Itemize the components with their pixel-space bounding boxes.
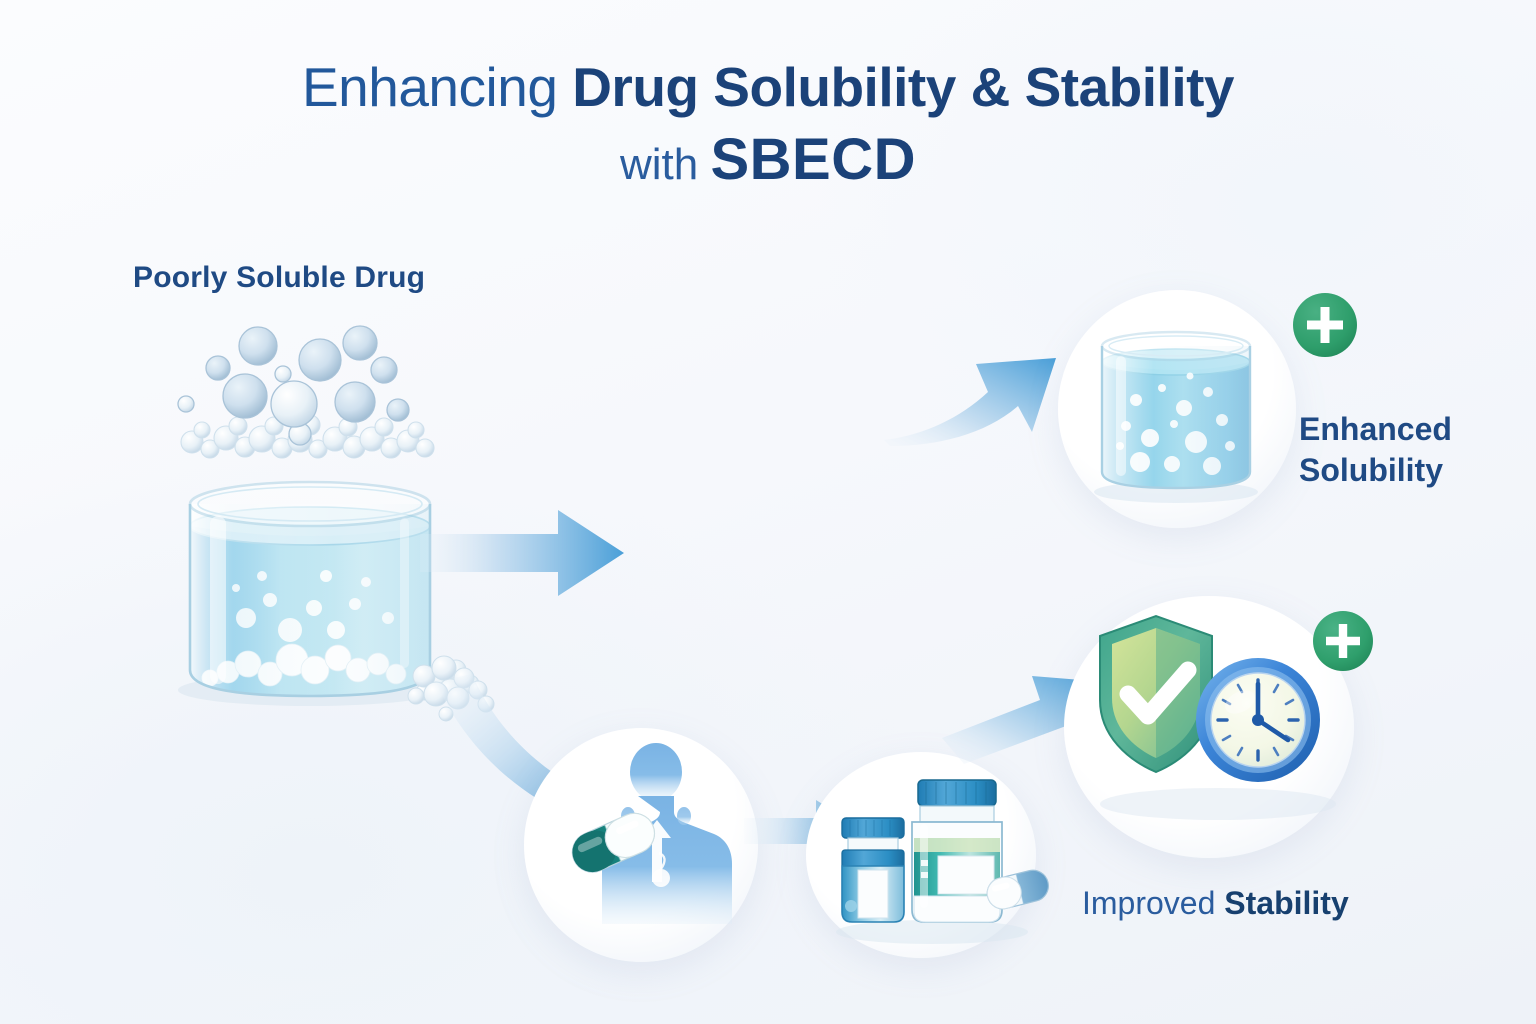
infographic-canvas: Enhancing Drug Solubility & Stability wi… bbox=[0, 0, 1536, 1024]
label-improved-bold: Stability bbox=[1224, 885, 1348, 921]
vial-small bbox=[842, 818, 904, 922]
title-line-2: with SBECD bbox=[0, 130, 1536, 191]
label-improved-light: Improved bbox=[1082, 885, 1224, 921]
human-body-absorption bbox=[548, 742, 744, 948]
plus-badge-solubility bbox=[1292, 292, 1358, 358]
drug-vials bbox=[820, 760, 1040, 950]
title-line-1-light: Enhancing bbox=[302, 56, 572, 118]
label-improved-stability: Improved Stability bbox=[1082, 884, 1349, 922]
plus-badge-stability bbox=[1312, 610, 1374, 672]
undissolved-particle-cloud bbox=[178, 326, 434, 458]
title-line-2-bold: SBECD bbox=[710, 127, 916, 192]
label-poorly-soluble-drug: Poorly Soluble Drug bbox=[133, 261, 425, 295]
clock-icon bbox=[1196, 658, 1320, 782]
shield-icon bbox=[1100, 616, 1212, 772]
arrow-main-beaker-to-solubility bbox=[418, 498, 638, 608]
shield-and-clock bbox=[1078, 608, 1348, 838]
title-line-1: Enhancing Drug Solubility & Stability bbox=[0, 58, 1536, 116]
label-enhanced-solubility: Enhanced Solubility bbox=[1299, 409, 1452, 491]
title-line-2-light: with bbox=[620, 140, 710, 189]
title-line-1-bold: Drug Solubility & Stability bbox=[572, 56, 1234, 118]
beaker-clear-solution bbox=[1076, 296, 1276, 506]
page-title: Enhancing Drug Solubility & Stability wi… bbox=[0, 58, 1536, 191]
